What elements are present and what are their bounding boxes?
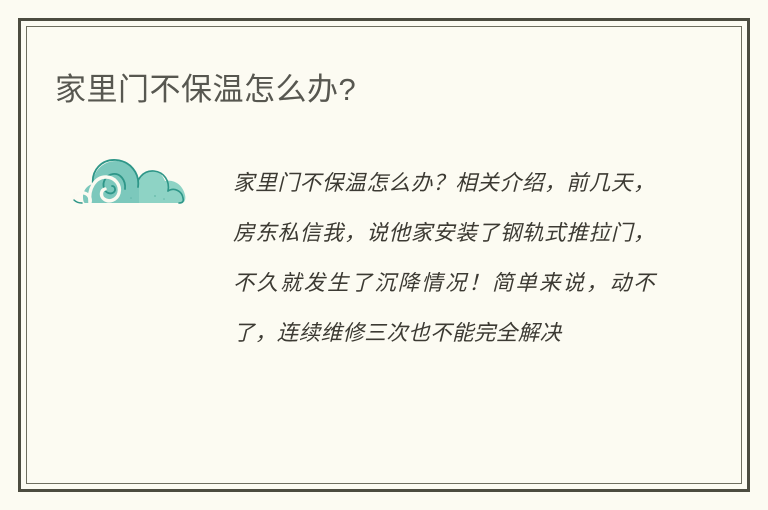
article-content: 家里门不保温怎么办?	[21, 21, 747, 489]
chinese-cloud-icon	[69, 155, 187, 219]
page-title: 家里门不保温怎么办?	[55, 64, 356, 109]
article-frame: 家里门不保温怎么办?	[18, 18, 750, 492]
article-body-text: 家里门不保温怎么办？相关介绍，前几天，房东私信我，说他家安装了钢轨式推拉门，不久…	[233, 159, 655, 359]
